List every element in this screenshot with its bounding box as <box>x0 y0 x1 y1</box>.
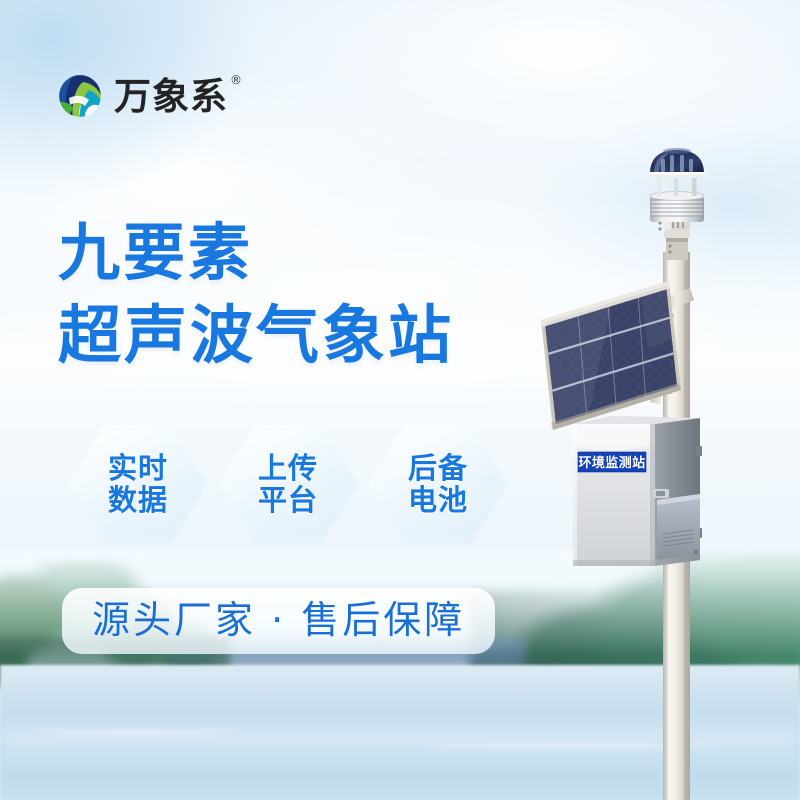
water-streak <box>30 730 240 734</box>
feature-badge-text: 实时 数据 <box>108 452 168 517</box>
brand-logo: 万象系 ® <box>55 70 228 122</box>
feature-badge-text: 上传 平台 <box>258 452 318 517</box>
feature-line-2: 平台 <box>258 484 318 516</box>
guarantee-text: 源头厂家 · 售后保障 <box>92 601 465 639</box>
feature-badge-backup-battery: 后备 电池 <box>368 425 508 543</box>
feature-badge-list: 实时 数据 上传 平台 后备 电池 <box>68 425 508 543</box>
headline-line-1: 九要素 <box>58 222 454 284</box>
headline-line-2: 超声波气象站 <box>58 304 454 367</box>
feature-line-1: 后备 <box>408 452 468 484</box>
trademark-icon: ® <box>230 74 243 86</box>
solar-panel-bracket <box>596 288 694 414</box>
feature-line-2: 数据 <box>108 484 168 516</box>
solar-panel-icon <box>530 275 700 440</box>
feature-line-1: 实时 <box>108 452 168 484</box>
brand-name-text: 万象系 <box>114 75 228 118</box>
water-streak <box>420 744 720 748</box>
ultrasonic-sensor-icon <box>648 148 706 238</box>
product-poster: 环境监测站 <box>0 0 800 800</box>
enclosure-nameplate: 环境监测站 <box>578 452 646 472</box>
svg-text:环境监测站: 环境监测站 <box>578 455 645 471</box>
feature-line-2: 电池 <box>408 484 468 516</box>
water-shimmer <box>0 712 800 772</box>
globe-swirl-icon <box>55 70 105 122</box>
feature-line-1: 上传 <box>258 452 318 484</box>
radiation-shield-icon <box>650 192 704 222</box>
brand-name: 万象系 ® <box>114 78 228 115</box>
guarantee-banner: 源头厂家 · 售后保障 <box>62 588 495 654</box>
feature-badge-realtime-data: 实时 数据 <box>68 425 208 543</box>
page-title: 九要素 超声波气象站 <box>58 222 454 367</box>
control-box-icon: 环境监测站 <box>573 416 702 566</box>
feature-badge-upload-platform: 上传 平台 <box>218 425 358 543</box>
feature-badge-text: 后备 电池 <box>408 452 468 517</box>
pole-coupling <box>666 238 688 260</box>
